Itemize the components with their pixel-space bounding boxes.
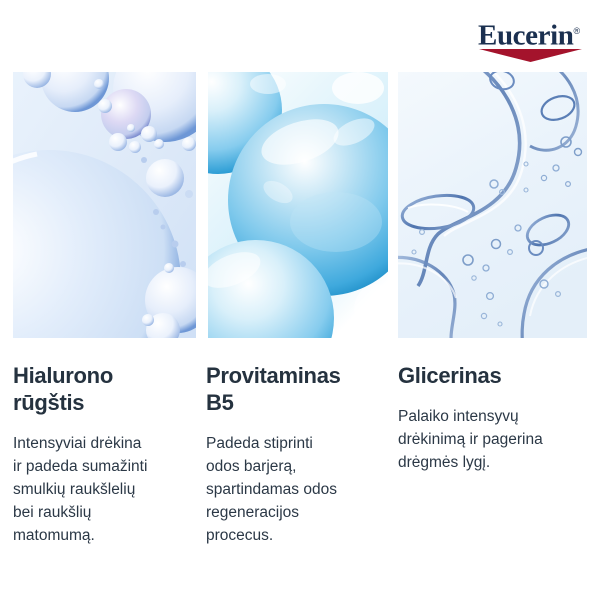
- ingredient-description: Palaiko intensyvų drėkinimą ir pagerina …: [398, 405, 590, 474]
- ingredient-column-hyaluronic-acid: Hialurono rūgštis Intensyviai drėkina ir…: [13, 362, 198, 547]
- ingredient-title: Provitaminas B5: [206, 362, 392, 416]
- logo-chevron-icon: [479, 49, 582, 62]
- glycerin-bubbles-image: [398, 72, 587, 338]
- ingredient-description: Intensyviai drėkina ir padeda sumažinti …: [13, 432, 198, 547]
- logo-wordmark: Eucerin®: [478, 16, 580, 51]
- provitamin-b5-bubbles-image: [208, 72, 388, 338]
- ingredient-column-provitamin-b5: Provitaminas B5 Padeda stiprinti odos ba…: [206, 362, 392, 547]
- ingredient-title: Glicerinas: [398, 362, 590, 389]
- ingredient-column-glycerin: Glicerinas Palaiko intensyvų drėkinimą i…: [398, 362, 590, 474]
- ingredient-text-columns: Hialurono rūgštis Intensyviai drėkina ir…: [0, 362, 600, 562]
- logo-wordmark-text: Eucerin: [478, 20, 573, 52]
- ingredient-image-strip: [13, 72, 587, 338]
- product-ingredients-page: Eucerin®: [0, 0, 600, 600]
- eucerin-logo[interactable]: Eucerin®: [478, 16, 588, 60]
- hyaluronic-acid-bubbles-image: [13, 72, 196, 338]
- registered-trademark-icon: ®: [573, 26, 579, 36]
- ingredient-description: Padeda stiprinti odos barjerą, spartinda…: [206, 432, 392, 547]
- ingredient-title: Hialurono rūgštis: [13, 362, 198, 416]
